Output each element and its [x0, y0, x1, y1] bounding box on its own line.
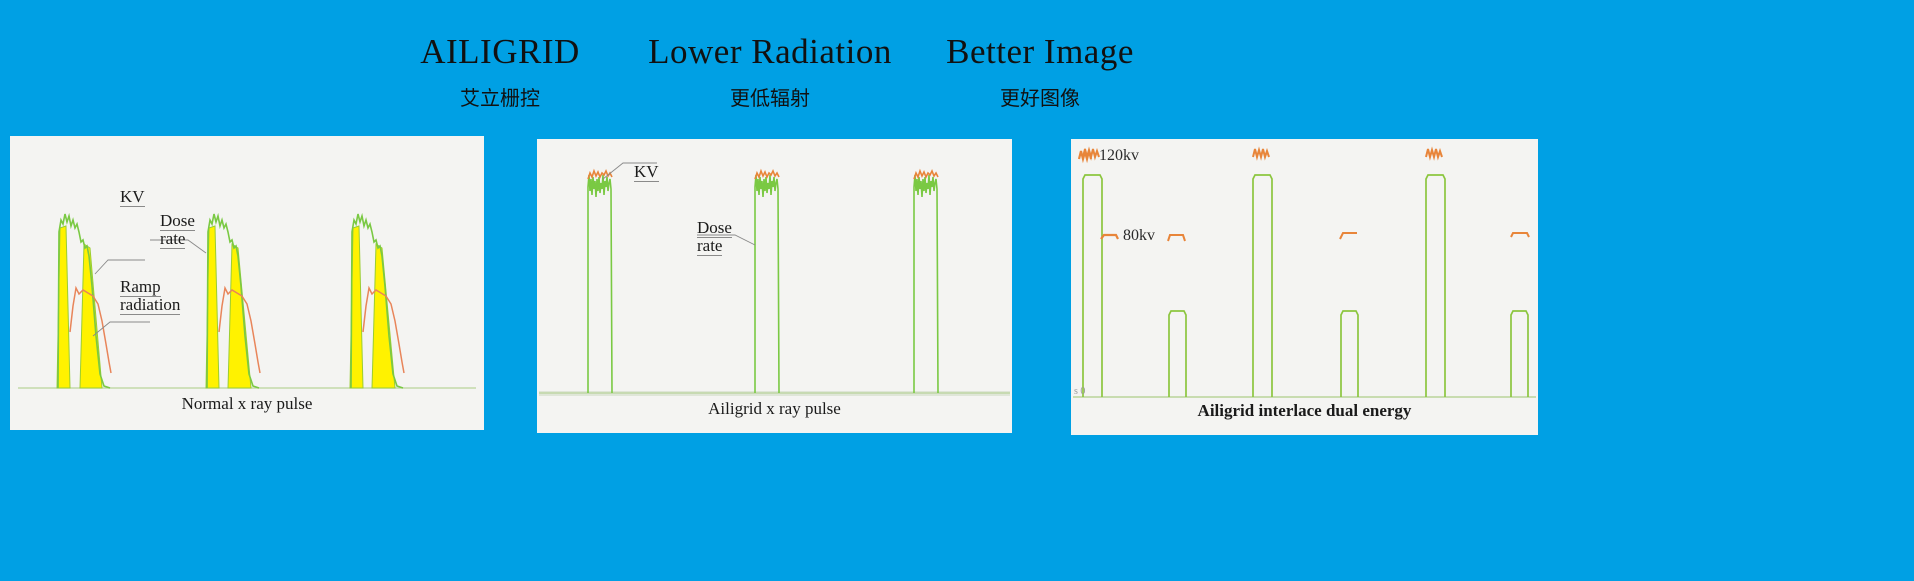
headline-en-2: Better Image	[870, 30, 1210, 74]
chart-plot-ailigrid-pulse	[537, 139, 1012, 433]
dose-rate-annotation-text: Dose rate	[697, 218, 732, 256]
pulse-80kv-2	[1341, 311, 1358, 397]
panel-caption-interlace-dual-energy: Ailigrid interlace dual energy	[1071, 401, 1538, 421]
dose-rate-annotation: Dose rate	[160, 194, 195, 248]
headline-column-better-image: Better Image 更好图像	[870, 30, 1210, 110]
kv-pulse-2	[755, 171, 779, 179]
chart-panel-interlace-dual-energy: 120kv 80kv s 0 Ailigrid interlace dual e…	[1071, 139, 1538, 435]
chart-panel-ailigrid-pulse: KV Dose rate Ailigrid x ray pulse	[537, 139, 1012, 433]
ailigrid-pulse-svg	[537, 139, 1012, 433]
kv-annotation: KV	[634, 145, 659, 181]
dose-rate-pulse-2	[755, 175, 779, 393]
kv-annotation: KV	[120, 170, 145, 206]
dose-rate-annotation-text: Dose rate	[160, 211, 195, 249]
panel-caption-ailigrid-pulse: Ailigrid x ray pulse	[537, 399, 1012, 419]
pulse-80kv-1	[1169, 311, 1186, 397]
kv-annotation-text: KV	[634, 162, 659, 182]
legend-80kv-label: 80kv	[1123, 227, 1155, 244]
legend-zigzag-marker	[1079, 151, 1091, 159]
legend-80kv: 80kv	[1123, 227, 1155, 245]
legend-dash-marker	[1101, 235, 1118, 239]
headline-cn-2: 更好图像	[870, 86, 1210, 110]
kv-pulse-3	[914, 171, 938, 179]
dash-marker-2	[1340, 233, 1357, 239]
pulse-120kv-1	[1083, 175, 1102, 397]
panel-caption-normal-pulse: Normal x ray pulse	[10, 394, 484, 414]
ramp-radiation-annotation: Ramp radiation	[120, 260, 180, 314]
legend-120kv: 120kv	[1099, 147, 1139, 165]
ramp-radiation-annotation-text: Ramp radiation	[120, 277, 180, 315]
poster-root: AILIGRID 艾立栅控 Lower Radiation 更低辐射 Bette…	[0, 0, 1914, 581]
chart-panel-normal-pulse: KV Dose rate Ramp radiation Normal x ray…	[10, 136, 484, 430]
normal-pulse-svg	[10, 136, 484, 430]
interlace-dual-energy-svg	[1071, 139, 1538, 435]
zigzag-marker-2	[1253, 149, 1269, 157]
pulse-80kv-3	[1511, 311, 1528, 397]
dose-rate-annotation: Dose rate	[697, 201, 732, 255]
chart-plot-interlace-dual-energy	[1071, 139, 1538, 435]
zigzag-marker-3	[1426, 149, 1442, 157]
dash-marker-1	[1168, 235, 1185, 241]
ramp-radiation-leader-line	[93, 322, 150, 336]
dose-rate-pulse-3	[914, 175, 938, 393]
kv-annotation-text: KV	[120, 187, 145, 207]
legend-120kv-label: 120kv	[1099, 147, 1139, 164]
axis-origin-label: s 0	[1074, 386, 1085, 397]
dose-rate-pulse-1	[588, 175, 612, 393]
pulse-120kv-2	[1253, 175, 1272, 397]
pulse-120kv-3	[1426, 175, 1445, 397]
chart-plot-normal-pulse	[10, 136, 484, 430]
dash-marker-3	[1511, 233, 1529, 237]
headline-band: AILIGRID 艾立栅控 Lower Radiation 更低辐射 Bette…	[0, 22, 1914, 112]
